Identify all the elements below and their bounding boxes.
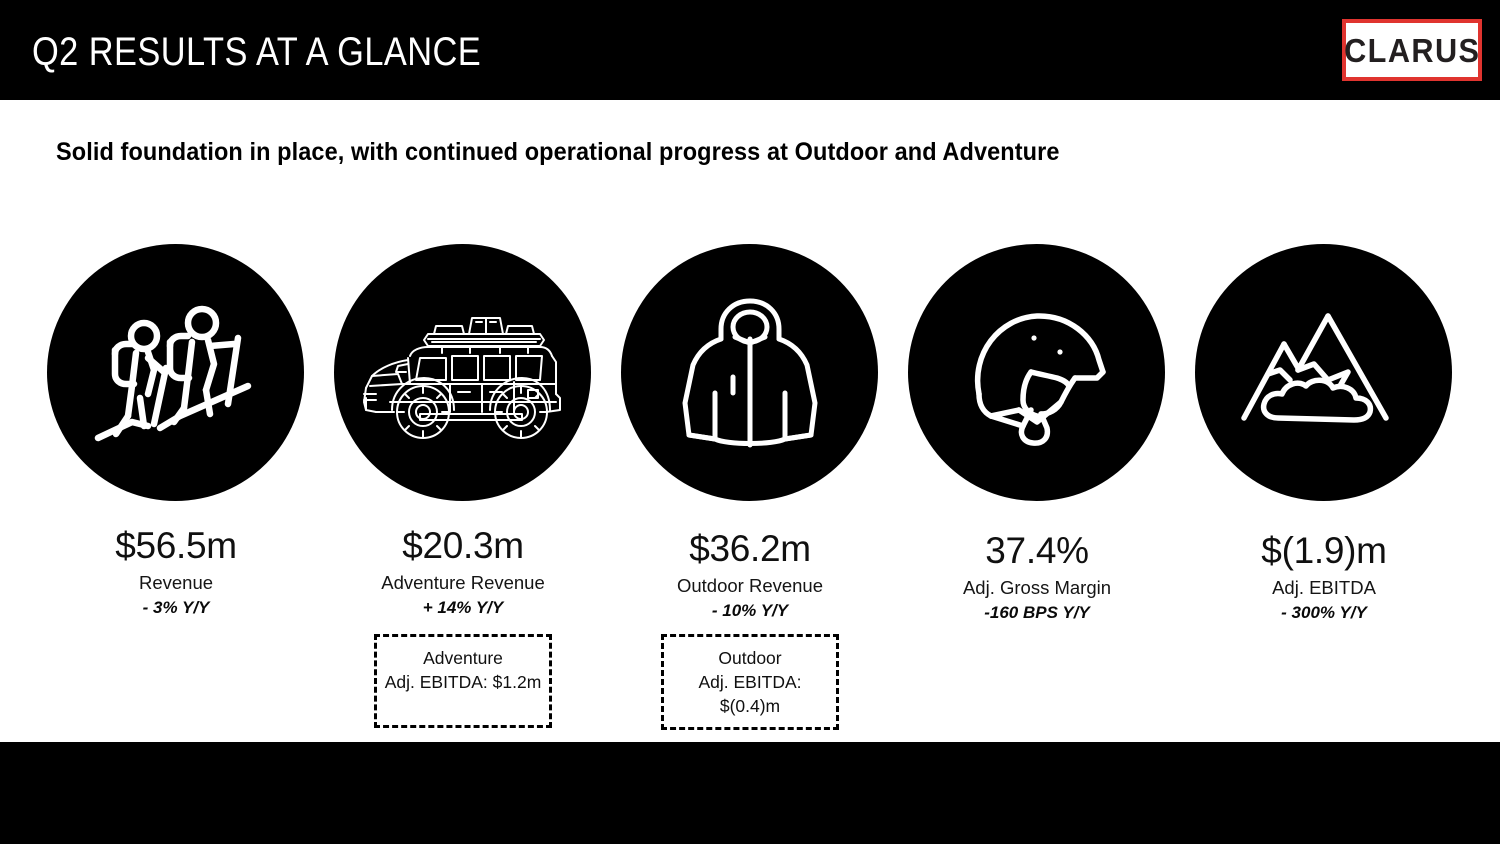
clarus-logo: CLARUS <box>1342 19 1482 81</box>
callout-line-2: Adj. EBITDA: <box>670 670 830 694</box>
icon-circle <box>621 244 878 501</box>
mountain-icon <box>1236 300 1411 445</box>
metric-label: Adj. EBITDA <box>1174 575 1474 600</box>
metric-value: 37.4% <box>887 529 1187 573</box>
icon-circle <box>47 244 304 501</box>
icon-circle <box>334 244 591 501</box>
metric-value: $(1.9)m <box>1174 529 1474 573</box>
metric-text: $56.5m Revenue - 3% Y/Y <box>26 524 326 620</box>
metric-text: 37.4% Adj. Gross Margin -160 BPS Y/Y <box>887 529 1187 625</box>
metric-delta: + 14% Y/Y <box>313 596 613 620</box>
metric-text: $20.3m Adventure Revenue + 14% Y/Y <box>313 524 613 620</box>
hooded-jacket-icon <box>675 293 825 453</box>
metric-delta: - 3% Y/Y <box>26 596 326 620</box>
climbing-helmet-icon <box>957 298 1117 448</box>
subtitle: Solid foundation in place, with continue… <box>56 136 1353 168</box>
callout-line-3: $(0.4)m <box>670 694 830 718</box>
metric-label: Revenue <box>26 570 326 595</box>
metric-text: $(1.9)m Adj. EBITDA - 300% Y/Y <box>1174 529 1474 625</box>
footer-bar <box>0 742 1500 844</box>
metric-value: $20.3m <box>313 524 613 568</box>
metric-label: Adj. Gross Margin <box>887 575 1187 600</box>
icon-circle <box>1195 244 1452 501</box>
callout-line-1: Adventure <box>383 646 543 670</box>
outdoor-ebitda-callout: Outdoor Adj. EBITDA: $(0.4)m <box>661 634 839 730</box>
page-title: Q2 RESULTS AT A GLANCE <box>32 31 481 73</box>
callout-line-2: Adj. EBITDA: $1.2m <box>383 670 543 694</box>
metric-label: Outdoor Revenue <box>600 573 900 598</box>
callout-line-1: Outdoor <box>670 646 830 670</box>
logo-text: CLARUS <box>1344 34 1480 67</box>
callout-line-3 <box>383 694 543 716</box>
offroad-suv-icon <box>350 298 575 448</box>
hikers-icon <box>88 298 263 448</box>
metric-value: $36.2m <box>600 527 900 571</box>
metric-delta: - 300% Y/Y <box>1174 601 1474 625</box>
metric-delta: -160 BPS Y/Y <box>887 601 1187 625</box>
metric-value: $56.5m <box>26 524 326 568</box>
icon-circle <box>908 244 1165 501</box>
adventure-ebitda-callout: Adventure Adj. EBITDA: $1.2m <box>374 634 552 728</box>
metric-label: Adventure Revenue <box>313 570 613 595</box>
metric-text: $36.2m Outdoor Revenue - 10% Y/Y <box>600 527 900 623</box>
metric-delta: - 10% Y/Y <box>600 599 900 623</box>
